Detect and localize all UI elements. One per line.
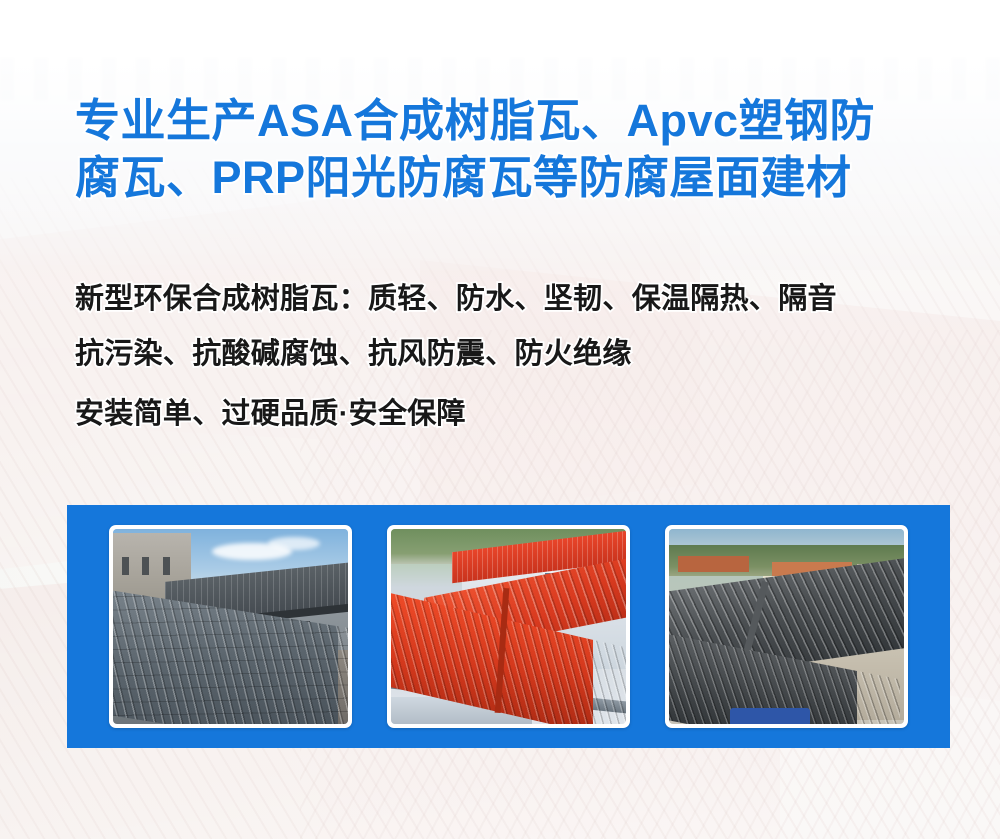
photo1-window — [163, 557, 170, 575]
headline-line-2: 腐瓦、PRP阳光防腐瓦等防腐屋面建材 — [75, 149, 955, 206]
feature-line-2: 抗污染、抗酸碱腐蚀、抗风防震、防火绝缘 — [75, 327, 975, 382]
feature-line-1: 新型环保合成树脂瓦：质轻、防水、坚韧、保温隔热、隔音 — [75, 272, 975, 327]
photo-frame-2[interactable] — [387, 525, 630, 728]
product-photo-panel — [67, 505, 950, 748]
page-title: 专业生产ASA合成树脂瓦、Apvc塑钢防 腐瓦、PRP阳光防腐瓦等防腐屋面建材 — [75, 92, 955, 206]
feature-text-block: 新型环保合成树脂瓦：质轻、防水、坚韧、保温隔热、隔音 抗污染、抗酸碱腐蚀、抗风防… — [75, 272, 975, 442]
feature-line-3: 安装简单、过硬品质·安全保障 — [75, 387, 975, 442]
photo3-blue-vehicle — [730, 708, 810, 724]
product-banner: 专业生产ASA合成树脂瓦、Apvc塑钢防 腐瓦、PRP阳光防腐瓦等防腐屋面建材 … — [0, 0, 1000, 839]
photo1-window — [142, 557, 149, 575]
grey-resin-tile-roof-photo — [113, 529, 348, 724]
photo3-village-building — [678, 556, 749, 572]
red-resin-tile-roof-photo — [391, 529, 626, 724]
photo-frame-1[interactable] — [109, 525, 352, 728]
dark-resin-tile-roof-photo — [669, 529, 904, 724]
photo1-window — [122, 557, 129, 575]
headline-line-1: 专业生产ASA合成树脂瓦、Apvc塑钢防 — [75, 92, 955, 149]
photo-frame-3[interactable] — [665, 525, 908, 728]
